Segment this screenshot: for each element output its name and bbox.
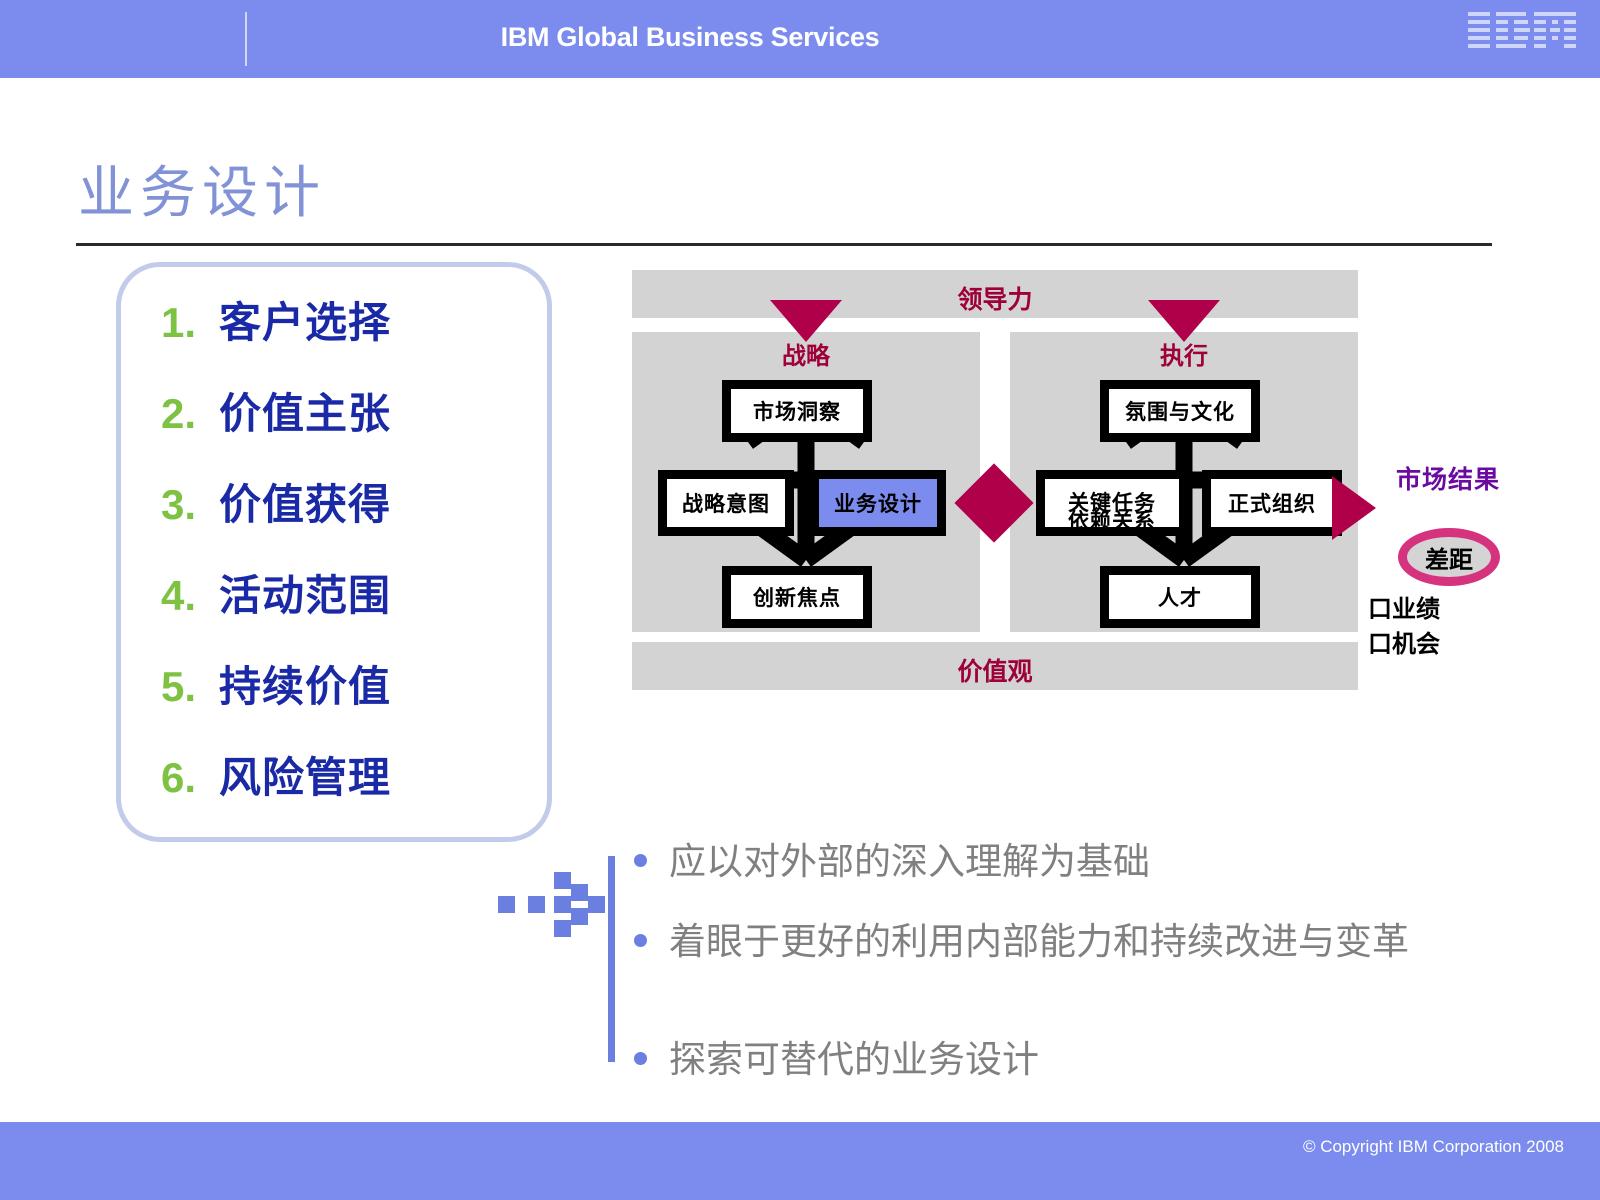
gap-item-opportunity: 口机会 — [1368, 624, 1440, 659]
list-item-number: 2. — [161, 390, 219, 438]
leadership-band-label: 领导力 — [632, 280, 1358, 316]
list-item-number: 4. — [161, 572, 219, 620]
list-item-label: 价值获得 — [219, 471, 391, 532]
list-item-number: 3. — [161, 481, 219, 529]
bullet-text: 探索可替代的业务设计 — [669, 1036, 1039, 1083]
numbered-list-card: 1. 客户选择 2. 价值主张 3. 价值获得 4. 活动范围 5. 持续价值 … — [116, 262, 552, 842]
box-market-insight[interactable]: 市场洞察 — [722, 380, 872, 442]
list-item-number: 1. — [161, 299, 219, 347]
values-band-label: 价值观 — [632, 652, 1358, 688]
gap-item-performance: 口业绩 — [1368, 589, 1440, 624]
list-item-number: 5. — [161, 663, 219, 711]
list-item[interactable]: 6. 风险管理 — [161, 744, 391, 805]
box-strategic-intent[interactable]: 战略意图 — [658, 470, 794, 536]
list-item-label: 价值主张 — [219, 380, 391, 441]
ibm-logo-svg — [1466, 10, 1578, 56]
list-item-number: 6. — [161, 754, 219, 802]
bullet-accent-bar — [608, 856, 615, 1062]
list-item[interactable]: 3. 价值获得 — [161, 471, 391, 532]
bullet-item: 应以对外部的深入理解为基础 — [634, 838, 1494, 885]
list-item[interactable]: 1. 客户选择 — [161, 289, 391, 350]
bullet-item: 着眼于更好的利用内部能力和持续改进与变革 — [634, 918, 1494, 965]
box-formal-organization[interactable]: 正式组织 — [1202, 470, 1342, 536]
box-key-task-dependency[interactable]: 关键任务 依赖关系 — [1036, 470, 1188, 536]
list-item-label: 客户选择 — [219, 289, 391, 350]
page-title: 业务设计 — [78, 148, 326, 229]
bullet-text: 着眼于更好的利用内部能力和持续改进与变革 — [669, 918, 1409, 965]
footer-bar — [0, 1122, 1600, 1200]
market-result-label: 市场结果 — [1396, 460, 1500, 496]
bullet-item: 探索可替代的业务设计 — [634, 1036, 1494, 1083]
title-divider — [76, 243, 1492, 246]
list-item-label: 持续价值 — [219, 653, 391, 714]
box-culture[interactable]: 氛围与文化 — [1100, 380, 1260, 442]
bullet-dot-icon — [634, 854, 647, 867]
list-item-label: 风险管理 — [219, 744, 391, 805]
copyright-text: © Copyright IBM Corporation 2008 — [1303, 1137, 1564, 1157]
bullet-text: 应以对外部的深入理解为基础 — [669, 838, 1150, 885]
strategy-arrow-down-icon — [770, 300, 842, 342]
business-design-diagram: 领导力 价值观 战略 执行 市场洞察 战略意图 业务设计 创新焦点 氛围与文化 — [632, 270, 1358, 690]
bullet-dot-icon — [634, 934, 647, 947]
bullet-dot-icon — [634, 1052, 647, 1065]
box-business-design[interactable]: 业务设计 — [810, 470, 946, 536]
header-title: IBM Global Business Services — [0, 22, 1380, 53]
box-innovation-focus[interactable]: 创新焦点 — [722, 566, 872, 628]
list-item[interactable]: 4. 活动范围 — [161, 562, 391, 623]
list-item[interactable]: 5. 持续价值 — [161, 653, 391, 714]
list-item[interactable]: 2. 价值主张 — [161, 380, 391, 441]
arrow-right-icon — [1332, 476, 1376, 540]
key-task-text-stack: 关键任务 依赖关系 — [1045, 479, 1179, 527]
pixel-arrow-icon — [498, 872, 590, 936]
gap-badge: 差距 — [1398, 528, 1500, 586]
list-item-label: 活动范围 — [219, 562, 391, 623]
ibm-logo-icon — [1466, 10, 1578, 56]
box-dependency-label: 依赖关系 — [1045, 505, 1179, 535]
box-talent[interactable]: 人才 — [1100, 566, 1260, 628]
execution-arrow-down-icon — [1148, 300, 1220, 342]
